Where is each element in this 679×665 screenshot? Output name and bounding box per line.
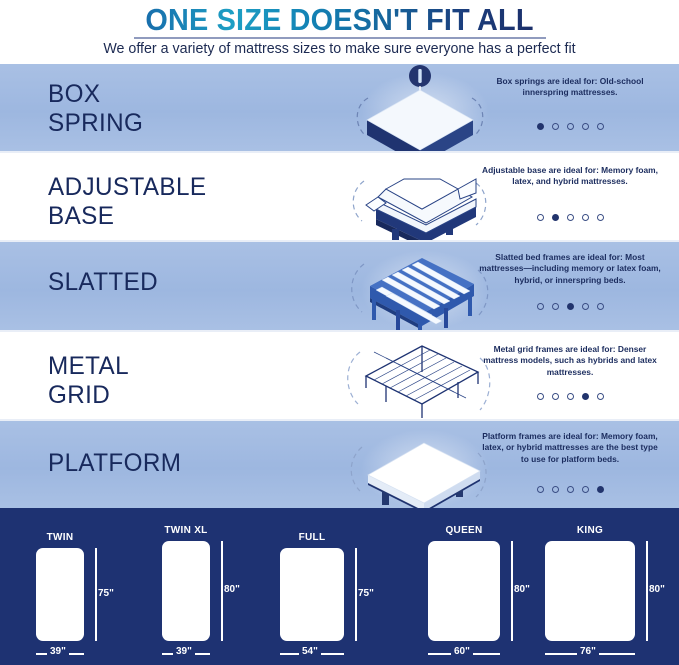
length-dimension-line	[355, 548, 357, 641]
mattress-size-name: TWIN	[36, 532, 84, 543]
row-description: Slatted bed frames are ideal for: Most m…	[479, 252, 661, 286]
row-label-line2: GRID	[48, 381, 129, 410]
row-label-line1: ADJUSTABLE	[48, 173, 206, 201]
row-label-line2: SPRING	[48, 109, 143, 138]
bed-base-row[interactable]: METALGRID Metal grid frames are ideal fo…	[0, 332, 679, 419]
row-label-line2: BASE	[48, 202, 206, 231]
progress-dot[interactable]	[567, 214, 574, 221]
progress-dot[interactable]	[552, 393, 559, 400]
progress-dot[interactable]	[582, 123, 589, 130]
header: ONE SIZE DOESN'T FIT ALL We offer a vari…	[0, 0, 679, 64]
length-dimension-line	[221, 541, 223, 641]
progress-dots[interactable]	[479, 118, 661, 136]
mattress-size-name: TWIN XL	[162, 525, 210, 536]
bed-base-row[interactable]: BOXSPRING Box springs are ideal for: Old…	[0, 64, 679, 151]
row-label: PLATFORM	[48, 449, 181, 478]
progress-dot[interactable]	[582, 486, 589, 493]
progress-dot[interactable]	[567, 303, 574, 310]
mattress-size-item[interactable]: QUEEN80"60"	[428, 525, 526, 655]
progress-dot[interactable]	[537, 303, 544, 310]
width-dimension-label: 54"	[299, 646, 321, 657]
row-description: Box springs are ideal for: Old-school in…	[479, 76, 661, 99]
row-description: Adjustable base are ideal for: Memory fo…	[479, 165, 661, 188]
length-dimension-label: 75"	[358, 588, 374, 599]
progress-dot[interactable]	[582, 393, 589, 400]
progress-dot[interactable]	[597, 303, 604, 310]
length-dimension-line	[511, 541, 513, 641]
row-description: Platform frames are ideal for: Memory fo…	[479, 431, 661, 465]
length-dimension-label: 75"	[98, 588, 114, 599]
row-label-line1: SLATTED	[48, 268, 158, 296]
progress-dot[interactable]	[552, 303, 559, 310]
progress-dot[interactable]	[597, 393, 604, 400]
progress-dot[interactable]	[552, 486, 559, 493]
progress-dot[interactable]	[582, 303, 589, 310]
mattress-size-item[interactable]: KING80"76"	[545, 525, 661, 655]
length-dimension-label: 80"	[224, 584, 240, 595]
mattress-size-item[interactable]: TWIN XL80"39"	[162, 525, 236, 655]
mattress-size-chart: TWIN75"39"TWIN XL80"39"FULL75"54"QUEEN80…	[0, 508, 679, 665]
progress-dot[interactable]	[552, 123, 559, 130]
progress-dot[interactable]	[567, 393, 574, 400]
width-dimension-label: 39"	[47, 646, 69, 657]
row-label: METALGRID	[48, 352, 129, 410]
width-dimension-label: 60"	[451, 646, 473, 657]
row-label-line1: METAL	[48, 352, 129, 380]
mattress-shape	[162, 541, 210, 641]
row-label: ADJUSTABLEBASE	[48, 173, 206, 231]
progress-dot[interactable]	[537, 486, 544, 493]
mattress-size-name: KING	[545, 525, 635, 536]
progress-dot[interactable]	[537, 214, 544, 221]
progress-dots[interactable]	[479, 388, 661, 406]
progress-dot[interactable]	[537, 123, 544, 130]
mattress-shape	[36, 548, 84, 641]
progress-dot[interactable]	[597, 486, 604, 493]
progress-dot[interactable]	[597, 214, 604, 221]
mattress-size-name: QUEEN	[428, 525, 500, 536]
page-subtitle: We offer a variety of mattress sizes to …	[17, 40, 662, 57]
page-title: ONE SIZE DOESN'T FIT ALL	[24, 2, 655, 38]
progress-dot[interactable]	[567, 123, 574, 130]
length-dimension-label: 80"	[514, 584, 530, 595]
mattress-size-name: FULL	[280, 532, 344, 543]
mattress-shape	[280, 548, 344, 641]
mattress-shape	[545, 541, 635, 641]
length-dimension-label: 80"	[649, 584, 665, 595]
row-label: BOXSPRING	[48, 80, 143, 138]
width-dimension-label: 76"	[577, 646, 599, 657]
progress-dot[interactable]	[567, 486, 574, 493]
progress-dot[interactable]	[597, 123, 604, 130]
length-dimension-line	[646, 541, 648, 641]
progress-dot[interactable]	[537, 393, 544, 400]
mattress-size-item[interactable]: TWIN75"39"	[36, 532, 110, 655]
progress-dots[interactable]	[479, 298, 661, 316]
bed-base-row[interactable]: PLATFORM Platform frames are ideal for: …	[0, 421, 679, 508]
bed-base-row[interactable]: ADJUSTABLEBASE Adjustable base are ideal…	[0, 153, 679, 240]
bed-base-rows: BOXSPRING Box springs are ideal for: Old…	[0, 64, 679, 510]
row-label-line1: BOX	[48, 80, 100, 108]
row-label-line1: PLATFORM	[48, 449, 181, 477]
progress-dots[interactable]	[479, 209, 661, 227]
mattress-size-item[interactable]: FULL75"54"	[280, 532, 370, 655]
row-label: SLATTED	[48, 268, 158, 297]
progress-dot[interactable]	[552, 214, 559, 221]
width-dimension-label: 39"	[173, 646, 195, 657]
title-underline	[134, 37, 546, 39]
progress-dots[interactable]	[479, 481, 661, 499]
bed-base-row[interactable]: SLATTED Slatted bed frames are ideal for…	[0, 242, 679, 330]
row-description: Metal grid frames are ideal for: Denser …	[479, 344, 661, 378]
length-dimension-line	[95, 548, 97, 641]
mattress-shape	[428, 541, 500, 641]
progress-dot[interactable]	[582, 214, 589, 221]
